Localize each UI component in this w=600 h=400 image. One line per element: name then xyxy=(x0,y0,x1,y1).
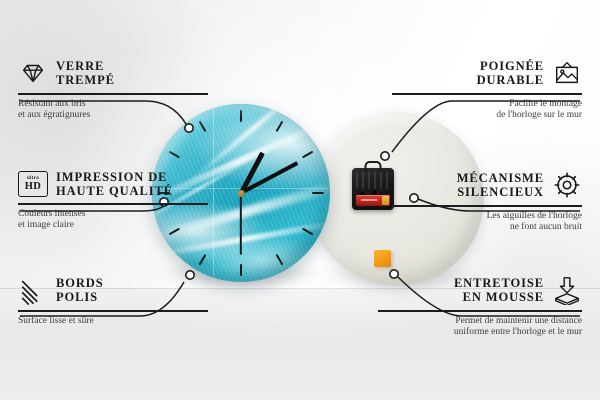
feature-subtitle: Résistant aux bris et aux égratignures xyxy=(18,99,208,122)
feature-rule xyxy=(18,93,208,95)
feature-title: IMPRESSION DE HAUTE QUALITÉ xyxy=(56,170,173,198)
infographic-canvas: VERRE TREMPÉ Résistant aux bris et aux é… xyxy=(0,0,600,400)
feature-head: MÉCANISME SILENCIEUX xyxy=(392,170,582,200)
feature-rule xyxy=(18,310,208,312)
feature-rule xyxy=(392,93,582,95)
feature-rule xyxy=(378,310,582,312)
feature-verre-trempe[interactable]: VERRE TREMPÉ Résistant aux bris et aux é… xyxy=(18,58,208,122)
feature-bords-polis[interactable]: BORDS POLIS Surface lisse et sûre xyxy=(18,275,208,327)
feature-title: VERRE TREMPÉ xyxy=(56,59,115,87)
gear-icon xyxy=(552,170,582,200)
feature-subtitle: Facilite le montage de l'horloge sur le … xyxy=(392,99,582,122)
feature-impression-haute-qualite[interactable]: ultra HD IMPRESSION DE HAUTE QUALITÉ Cou… xyxy=(18,170,208,232)
diamond-icon xyxy=(18,58,48,88)
feature-title: ENTRETOISE EN MOUSSE xyxy=(454,276,544,304)
battery-terminal xyxy=(382,196,389,205)
feature-title: POIGNÉE DURABLE xyxy=(477,59,544,87)
feature-head: BORDS POLIS xyxy=(18,275,208,305)
mechanism-texture xyxy=(356,172,390,189)
feature-head: ENTRETOISE EN MOUSSE xyxy=(378,275,582,305)
feature-rule xyxy=(392,205,582,207)
quartz-mechanism xyxy=(352,168,394,210)
polished-edges-icon xyxy=(18,275,48,305)
feature-poignee-durable[interactable]: POIGNÉE DURABLE Facilite le montage de l… xyxy=(392,58,582,122)
feature-subtitle: Permet de maintenir une distance uniform… xyxy=(378,316,582,339)
mechanism-hanger-tab xyxy=(365,161,382,172)
foam-spacer xyxy=(374,250,391,267)
feature-rule xyxy=(18,203,208,205)
battery xyxy=(356,195,390,206)
feature-subtitle: Couleurs intenses et image claire xyxy=(18,209,208,232)
feature-subtitle: Surface lisse et sûre xyxy=(18,316,208,328)
feature-entretoise-mousse[interactable]: ENTRETOISE EN MOUSSE Permet de maintenir… xyxy=(378,275,582,339)
wall-hanger-icon xyxy=(552,58,582,88)
feature-head: ultra HD IMPRESSION DE HAUTE QUALITÉ xyxy=(18,170,208,198)
feature-mecanisme-silencieux[interactable]: MÉCANISME SILENCIEUX Les aiguilles de l'… xyxy=(392,170,582,234)
feature-head: VERRE TREMPÉ xyxy=(18,58,208,88)
foam-spacer-icon xyxy=(552,275,582,305)
feature-subtitle: Les aiguilles de l'horloge ne font aucun… xyxy=(392,211,582,234)
battery-stripe xyxy=(361,199,377,201)
ultra-hd-badge-icon: ultra HD xyxy=(18,171,48,197)
feature-head: POIGNÉE DURABLE xyxy=(392,58,582,88)
feature-title: MÉCANISME SILENCIEUX xyxy=(457,171,544,199)
feature-title: BORDS POLIS xyxy=(56,276,104,304)
